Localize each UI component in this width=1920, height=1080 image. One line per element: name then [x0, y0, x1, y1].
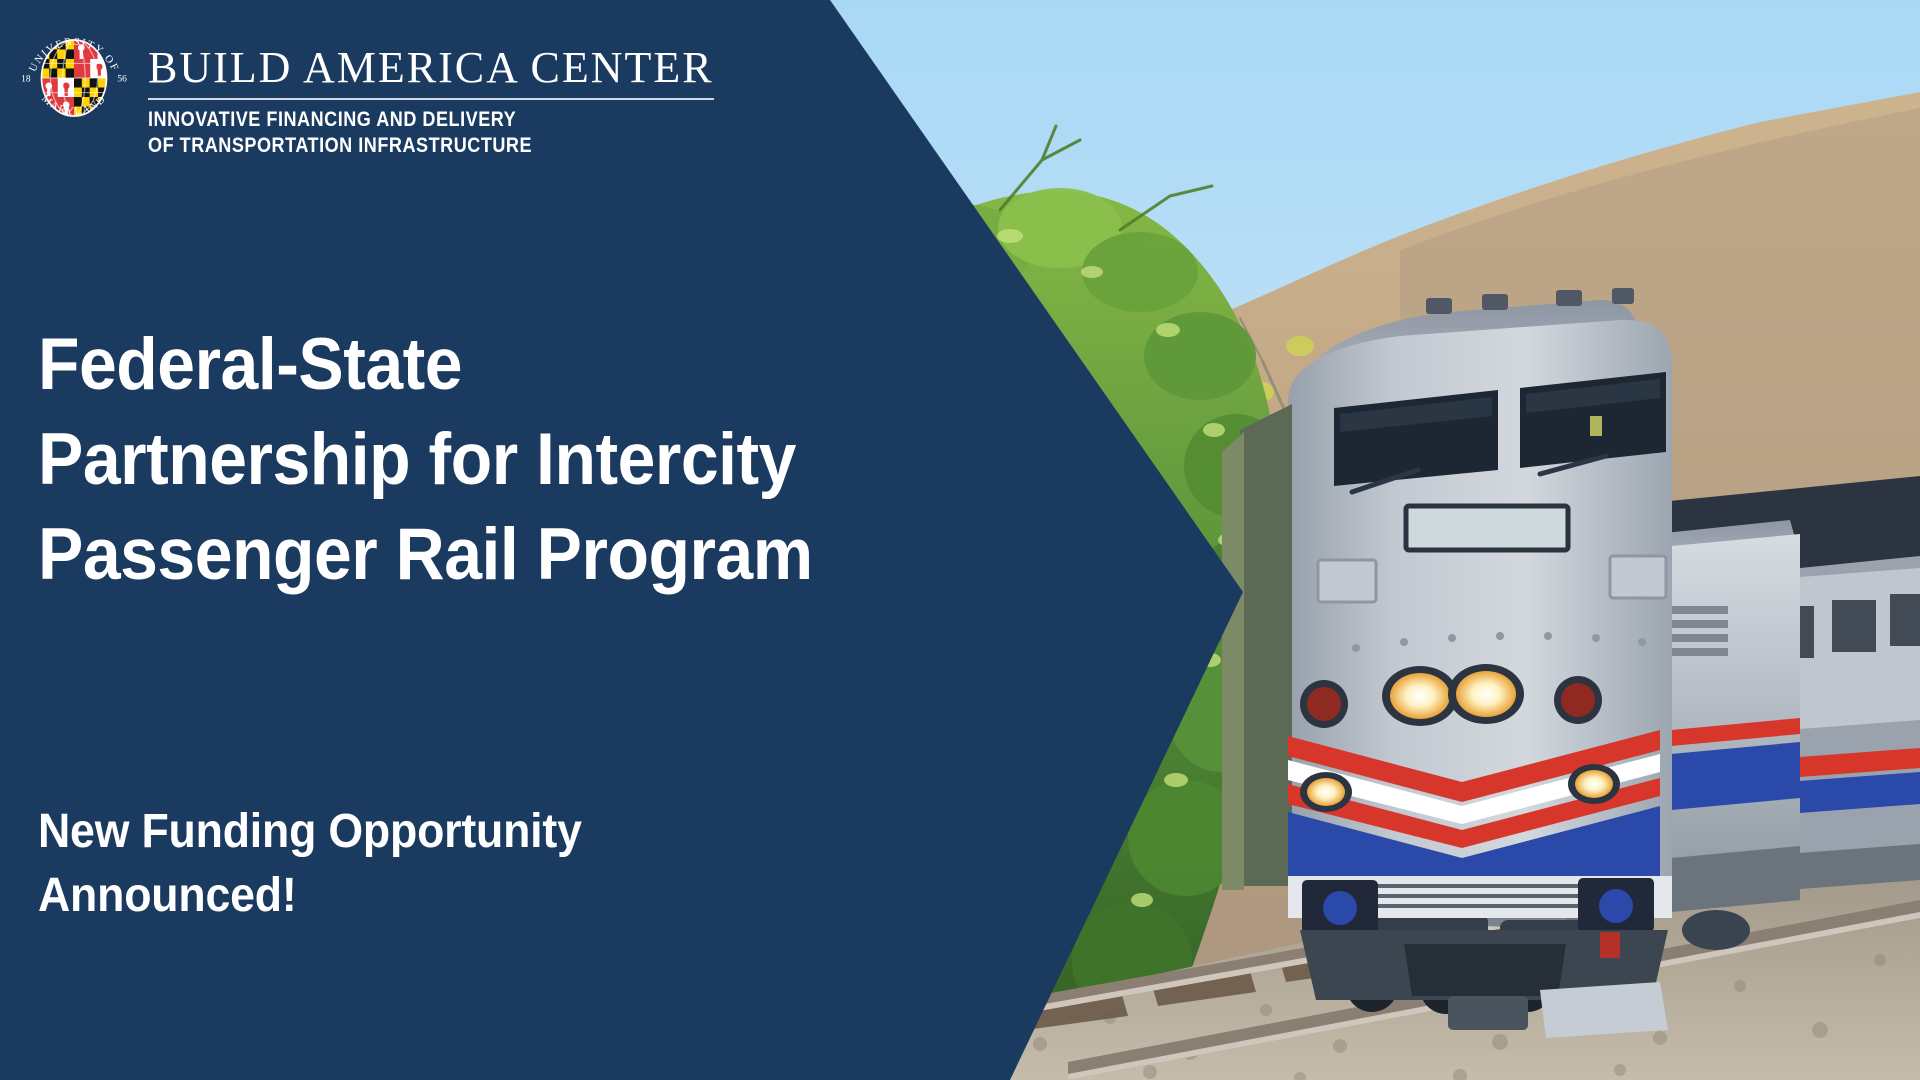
tagline-line-2: OF TRANSPORTATION INFRASTRUCTURE	[148, 133, 634, 159]
tagline-line-1: INNOVATIVE FINANCING AND DELIVERY	[148, 107, 634, 133]
wordmark: BUILD AMERICA CENTER INNOVATIVE FINANCIN…	[148, 22, 714, 158]
svg-text:56: 56	[117, 74, 127, 84]
headline-line-3: Passenger Rail Program	[38, 508, 838, 603]
headline-line-1: Federal-State	[38, 318, 838, 413]
center-name: BUILD AMERICA CENTER	[148, 46, 714, 90]
build-america-center-logo: UNIVERSITY OF MARYLAND 18 56 BUILD AMERI…	[18, 22, 714, 158]
wordmark-divider	[148, 98, 714, 100]
banner-graphic: UNIVERSITY OF MARYLAND 18 56 BUILD AMERI…	[0, 0, 1920, 1080]
subtitle-line-2: Announced!	[38, 864, 801, 928]
subtitle: New Funding Opportunity Announced!	[38, 800, 801, 929]
university-of-maryland-seal-icon: UNIVERSITY OF MARYLAND 18 56	[18, 22, 130, 134]
headline-line-2: Partnership for Intercity	[38, 413, 838, 508]
subtitle-line-1: New Funding Opportunity	[38, 800, 801, 864]
svg-text:18: 18	[21, 74, 31, 84]
page-title: Federal-State Partnership for Intercity …	[38, 318, 838, 603]
